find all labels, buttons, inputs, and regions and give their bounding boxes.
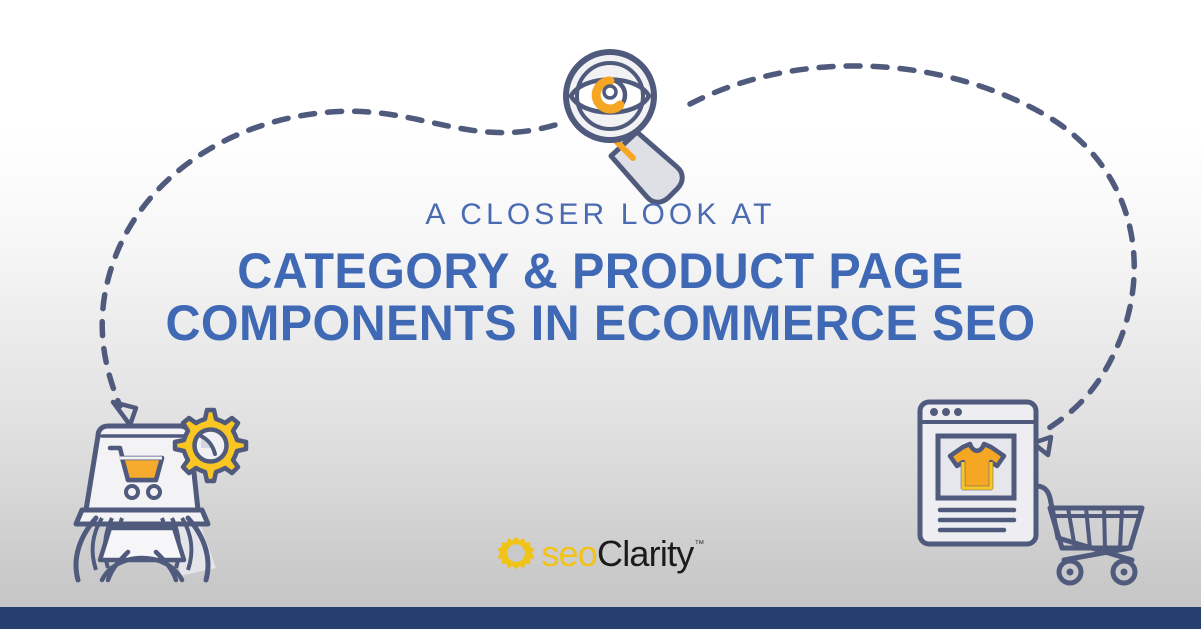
- bottom-accent-bar: [0, 607, 1201, 629]
- seoclarity-wordmark: seo Clarity ™: [541, 536, 703, 572]
- magnifier-inner-ring: [577, 63, 643, 129]
- laptop-base: [76, 510, 208, 524]
- cart-on-screen-icon: [110, 448, 162, 498]
- magnifier-handle: [611, 132, 682, 202]
- seoclarity-sunburst-icon: [497, 535, 535, 573]
- trademark-symbol: ™: [694, 540, 703, 550]
- tshirt-icon: [950, 444, 1004, 488]
- arrowhead-right-icon: [1033, 437, 1051, 455]
- logo-seo-text: seo: [541, 536, 597, 572]
- banner-canvas: A CLOSER LOOK AT CATEGORY & PRODUCT PAGE…: [0, 0, 1201, 629]
- laptop-screen: [86, 426, 198, 510]
- browser-dot-1-icon: [930, 408, 938, 416]
- headline-line-1: CATEGORY & PRODUCT PAGE: [18, 245, 1183, 297]
- headline-line-2: COMPONENTS IN ECOMMERCE SEO: [18, 297, 1183, 349]
- page-title: CATEGORY & PRODUCT PAGE COMPONENTS IN EC…: [18, 245, 1183, 349]
- eye-pupil-icon: [604, 86, 616, 98]
- seoclarity-logo: seo Clarity ™: [0, 535, 1201, 573]
- logo-clarity-text: Clarity: [597, 536, 693, 572]
- eye-iris-fill: [596, 81, 620, 109]
- gear-icon: [175, 410, 246, 481]
- headline-block: A CLOSER LOOK AT CATEGORY & PRODUCT PAGE…: [0, 198, 1201, 349]
- browser-window-frame: [920, 402, 1036, 544]
- magnifier-lens: [566, 52, 654, 140]
- product-image-frame: [938, 436, 1014, 498]
- eyebrow-text: A CLOSER LOOK AT: [0, 198, 1201, 233]
- eye-outline-icon: [571, 80, 649, 113]
- eye-iris-icon: [595, 80, 625, 110]
- cart-handle: [1036, 486, 1058, 538]
- arrowhead-left-icon: [113, 402, 136, 425]
- browser-dot-3-icon: [954, 408, 962, 416]
- magnifier-collar: [609, 134, 633, 158]
- browser-dot-2-icon: [942, 408, 950, 416]
